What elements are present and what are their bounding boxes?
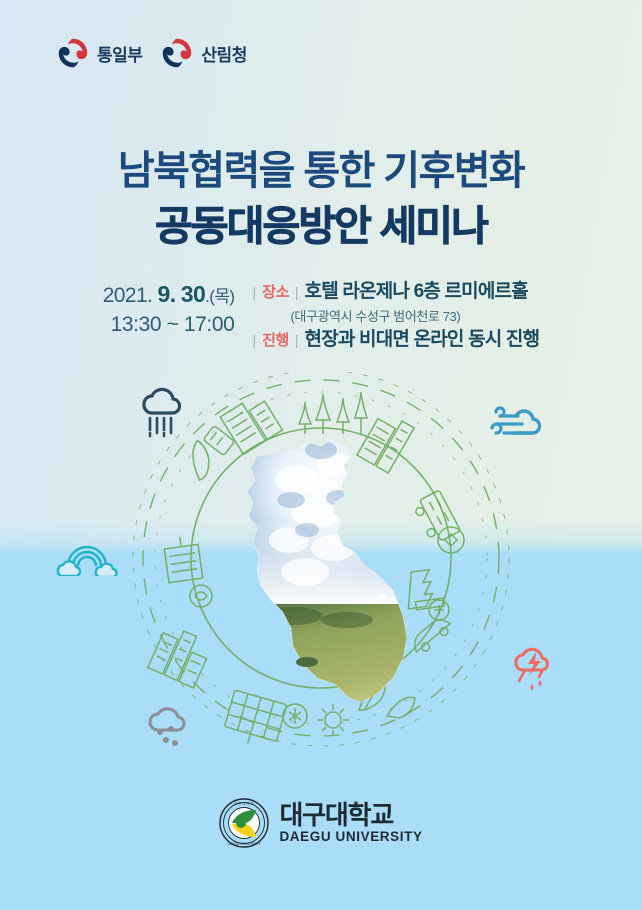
rainbow-cloud-icon (54, 532, 120, 576)
korean-peninsula-shape (241, 432, 421, 734)
rainbow-cloud-glyph (54, 532, 120, 576)
snow-cloud-icon (142, 698, 200, 754)
rain-cloud-icon (130, 378, 192, 440)
gov-logo-forest-service: 산림청 (160, 36, 246, 70)
thunderstorm-glyph (510, 640, 562, 692)
event-info: 2021. 9. 30.(목) 13:30 ~ 17:00 | 장소 | 호텔 … (0, 280, 642, 353)
government-logo-row: 통일부 산림청 (56, 36, 247, 70)
thunderstorm-cloud-icon (510, 640, 562, 692)
jeju-island (296, 657, 318, 667)
divider-bar-right: | (295, 280, 299, 304)
venue-address: (대구광역시 수성구 범어천로 73) (290, 306, 539, 325)
university-name: 대구대학교 DAEGU UNIVERSITY (279, 802, 422, 844)
venue-tag: 장소 (262, 281, 289, 305)
gov-logo-label: 산림청 (201, 41, 246, 66)
daegu-university-logo: 대 구 대 학 교 DAEGU UNIVERSITY 대구대학교 DAEGU U… (0, 798, 642, 848)
gov-logo-label: 통일부 (97, 41, 142, 66)
event-venue-block: | 장소 | 호텔 라온제나 6층 르미에르홀 (대구광역시 수성구 범어천로 … (252, 280, 539, 353)
mode-value: 현장과 비대면 온라인 동시 진행 (305, 328, 540, 352)
event-date: 2021. 9. 30.(목) (103, 280, 235, 311)
svg-text:대 구 대 학 교: 대 구 대 학 교 (235, 801, 254, 806)
title-line-2: 공동대응방안 세미나 (0, 200, 642, 252)
event-datetime: 2021. 9. 30.(목) 13:30 ~ 17:00 (103, 280, 253, 339)
poster-title: 남북협력을 통한 기후변화 공동대응방안 세미나 (0, 146, 642, 252)
korea-government-taegeuk-emblem-icon (160, 36, 194, 70)
divider-bar-left: | (252, 328, 256, 352)
date-year: 2021. (103, 284, 153, 307)
daegu-university-seal-icon: 대 구 대 학 교 DAEGU UNIVERSITY (219, 798, 269, 848)
mode-tag: 진행 (262, 329, 289, 353)
korea-government-taegeuk-emblem-icon (56, 36, 90, 70)
divider-bar-right: | (295, 328, 299, 352)
snow-cloud-glyph (142, 698, 200, 754)
gov-logo-unification: 통일부 (56, 36, 142, 70)
seminar-poster: 통일부 산림청 남북협력을 통한 기후변화 공동대응방안 세미나 2021. 9… (0, 0, 642, 910)
venue-value: 호텔 라온제나 6층 르미에르홀 (305, 280, 528, 304)
venue-line: | 장소 | 호텔 라온제나 6층 르미에르홀 (252, 280, 539, 305)
wind-cloud-glyph (484, 402, 554, 450)
university-name-en: DAEGU UNIVERSITY (279, 830, 422, 844)
rain-cloud-glyph (130, 378, 192, 440)
wind-cloud-icon (484, 402, 554, 450)
date-weekday: .(목) (205, 287, 234, 306)
event-time: 13:30 ~ 17:00 (103, 311, 235, 339)
title-line-1: 남북협력을 통한 기후변화 (0, 146, 642, 196)
university-name-ko: 대구대학교 (279, 802, 422, 828)
svg-text:DAEGU UNIVERSITY: DAEGU UNIVERSITY (228, 842, 262, 846)
date-month: 9. (158, 281, 176, 307)
date-day: 30 (181, 281, 205, 307)
mode-line: | 진행 | 현장과 비대면 온라인 동시 진행 (252, 328, 539, 353)
divider-bar-left: | (252, 280, 256, 304)
